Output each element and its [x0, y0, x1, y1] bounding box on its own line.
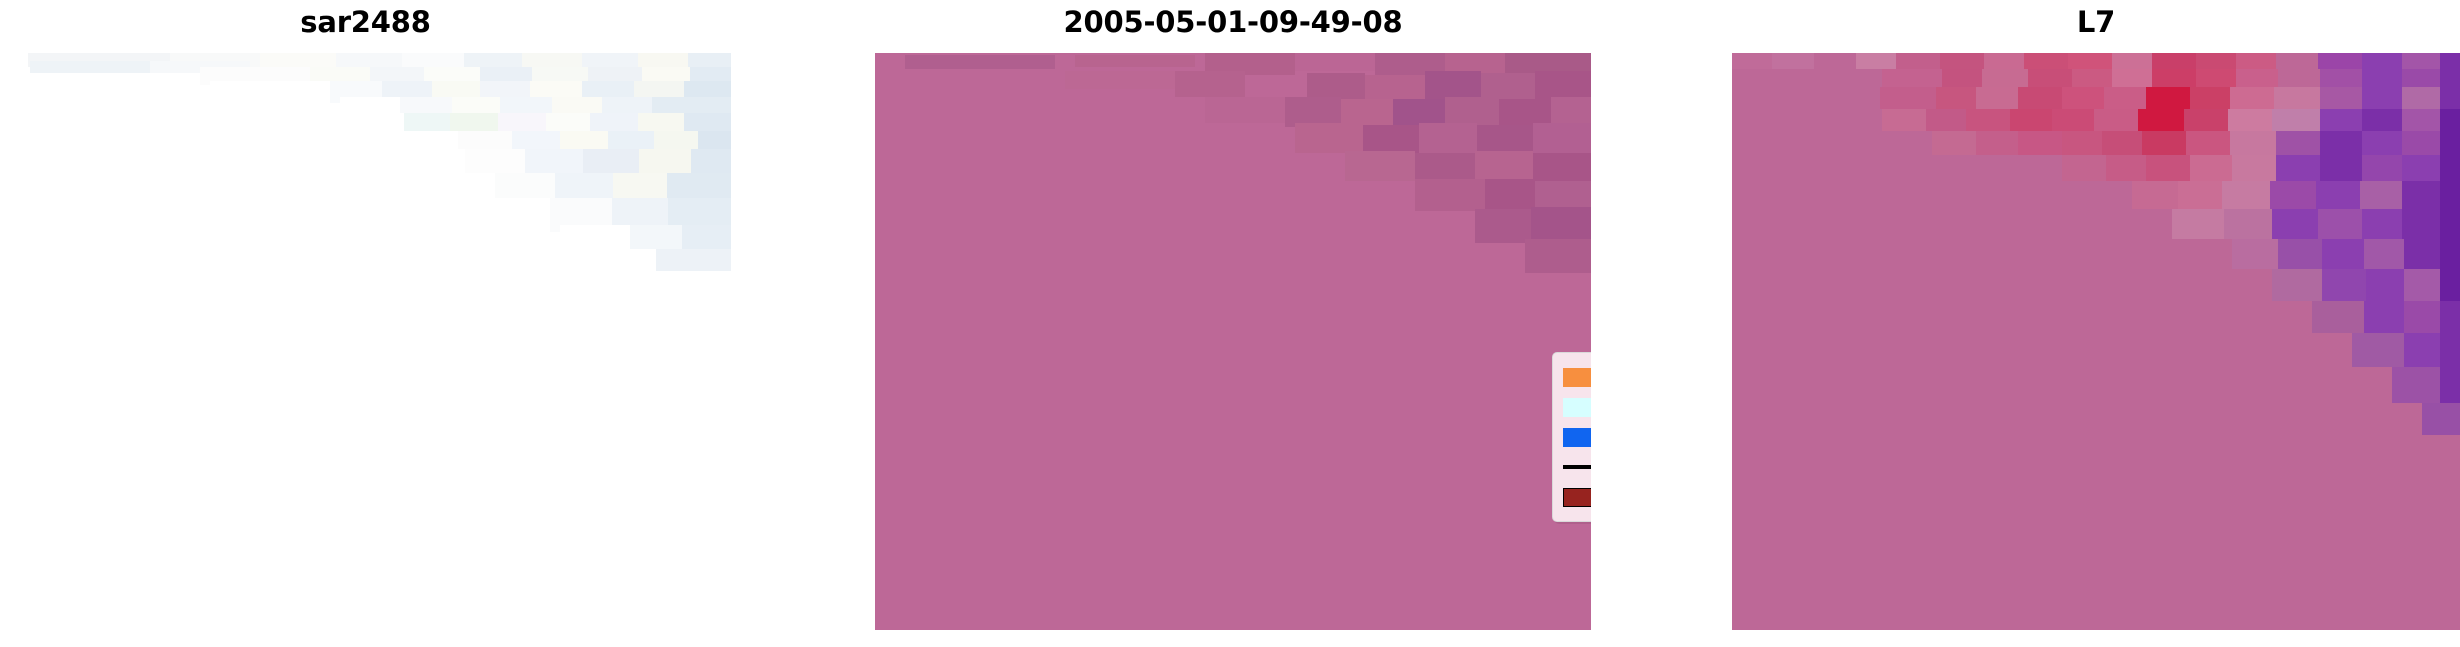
legend-swatch-sand-wrap: [1563, 368, 1591, 387]
figure-canvas: sar2488: [0, 0, 2460, 647]
panel-image-sar: [0, 53, 731, 630]
panel-sar: sar2488: [0, 0, 731, 647]
shoreline-line-icon: [1563, 465, 1591, 469]
panel-title-l7: L7: [1732, 4, 2460, 40]
panel-l7: L7: [1732, 0, 2460, 647]
whitewater-swatch-icon: [1563, 398, 1591, 417]
legend-item-sand: sand: [1563, 362, 1591, 392]
l7-raster: [1732, 53, 2460, 630]
sar-raster: [0, 53, 731, 630]
legend-swatch-shoreline-wrap: [1563, 465, 1591, 469]
legend-swatch-whitewater-wrap: [1563, 398, 1591, 417]
panel-title-sar: sar2488: [0, 4, 731, 40]
legend-item-whitewater: whitewater: [1563, 392, 1591, 422]
legend-swatch-water-wrap: [1563, 428, 1591, 447]
legend-box: sand whitewater water: [1552, 352, 1591, 522]
sand-swatch-icon: [1563, 368, 1591, 387]
panel-title-timestamp: 2005-05-01-09-49-08: [875, 4, 1591, 40]
legend-item-shoreline: shoreline: [1563, 452, 1591, 482]
panel-image-l7: [1732, 53, 2460, 630]
legend-swatch-buffer-wrap: [1563, 488, 1591, 507]
legend-item-water: water: [1563, 422, 1591, 452]
timestamp-raster: [875, 53, 1591, 630]
legend-item-reference-shoreline-buffer: reference shoreline buffer: [1563, 482, 1591, 512]
reference-shoreline-buffer-swatch-icon: [1563, 488, 1591, 507]
water-swatch-icon: [1563, 428, 1591, 447]
panel-timestamp: 2005-05-01-09-49-08: [875, 0, 1591, 647]
panel-image-timestamp: sand whitewater water: [875, 53, 1591, 630]
